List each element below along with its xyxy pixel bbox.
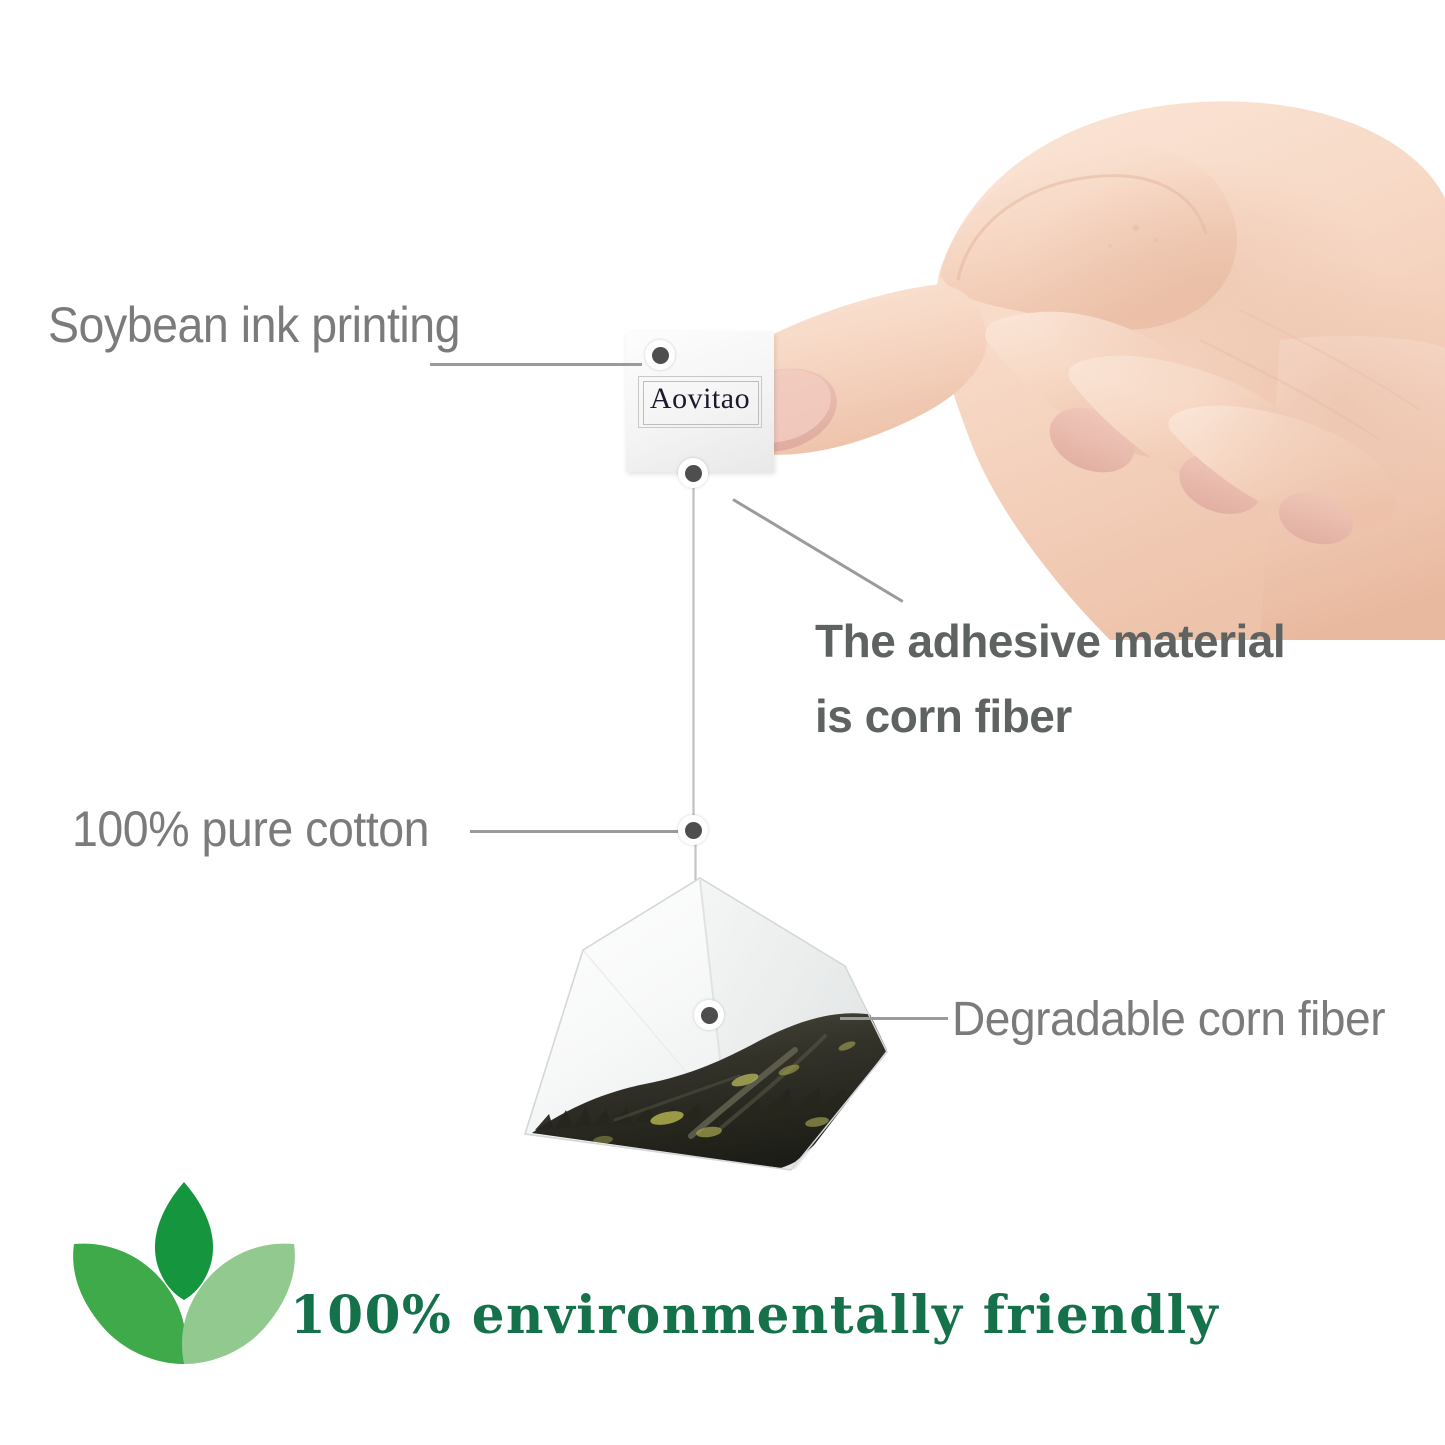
callout-label-cotton: 100% pure cotton bbox=[72, 800, 429, 858]
callout-dot-icon-cotton bbox=[678, 815, 708, 845]
callout-dot-icon-degradable bbox=[694, 1000, 724, 1030]
leader-line-degradable bbox=[840, 1017, 948, 1020]
tag-brand-name: Aovitao bbox=[626, 382, 774, 416]
callout-label-adhesive-line2: is corn fiber bbox=[815, 679, 1335, 754]
leader-line-cotton bbox=[470, 830, 678, 833]
callout-dot-icon-adhesive bbox=[678, 458, 708, 488]
eco-headline: 100% environmentally friendly bbox=[290, 1285, 1219, 1346]
three-leaf-eco-logo bbox=[68, 1178, 300, 1368]
callout-label-adhesive: The adhesive material is corn fiber bbox=[815, 604, 1335, 753]
leader-line-soybean bbox=[430, 363, 642, 366]
infographic-canvas: Aovitao bbox=[0, 0, 1445, 1445]
leaf-icon-center bbox=[155, 1182, 213, 1300]
callout-label-adhesive-line1: The adhesive material bbox=[815, 604, 1335, 679]
callout-label-degradable: Degradable corn fiber bbox=[952, 992, 1385, 1047]
cotton-string-upper bbox=[692, 472, 695, 832]
callout-label-soybean: Soybean ink printing bbox=[48, 296, 460, 354]
callout-dot-icon-soybean bbox=[645, 340, 675, 370]
